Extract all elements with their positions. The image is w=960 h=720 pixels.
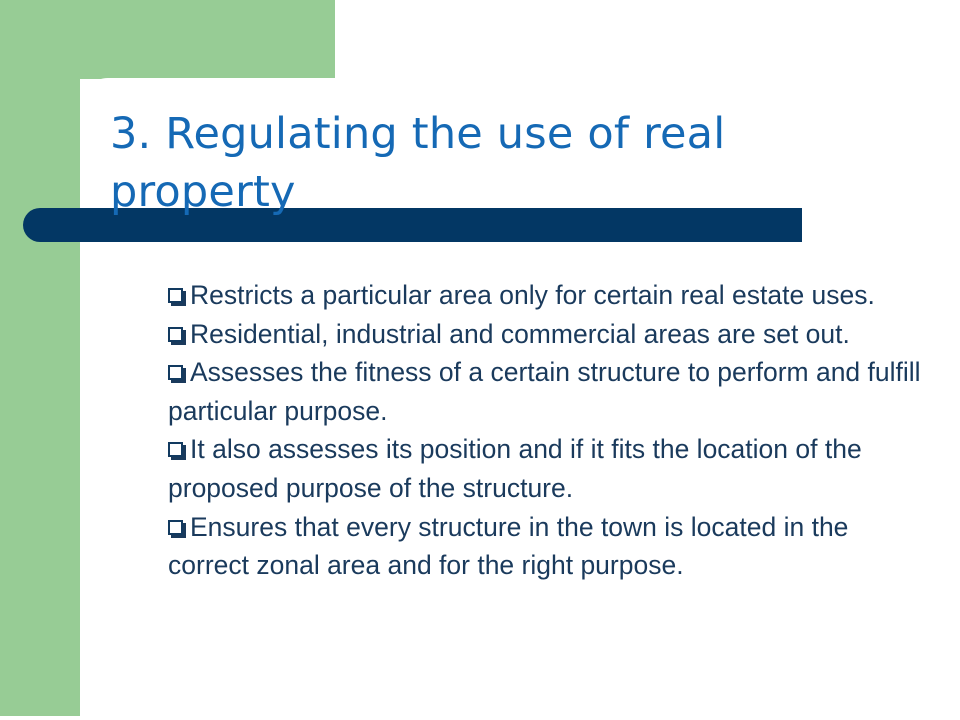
list-item-text: Restricts a particular area only for cer…	[190, 280, 875, 310]
hollow-square-bullet-icon	[168, 327, 189, 345]
presentation-slide: 3. Regulating the use of real property R…	[0, 0, 960, 720]
hollow-square-bullet-icon	[168, 442, 189, 460]
list-item: Ensures that every structure in the town…	[168, 508, 928, 585]
list-item-text: Ensures that every structure in the town…	[168, 512, 848, 581]
bullet-list: Restricts a particular area only for cer…	[168, 276, 928, 585]
list-item: It also assesses its position and if it …	[168, 430, 928, 507]
list-item-text: It also assesses its position and if it …	[168, 434, 862, 503]
hollow-square-bullet-icon	[168, 365, 189, 383]
hollow-square-bullet-icon	[168, 288, 189, 306]
list-item: Restricts a particular area only for cer…	[168, 276, 928, 315]
list-item-text: Assesses the fitness of a certain struct…	[168, 357, 921, 426]
hollow-square-bullet-icon	[168, 520, 189, 538]
list-item-text: Residential, industrial and commercial a…	[190, 319, 850, 349]
list-item: Assesses the fitness of a certain struct…	[168, 353, 928, 430]
green-side-column-decoration	[0, 0, 80, 716]
slide-title: 3. Regulating the use of real property	[110, 105, 810, 221]
list-item: Residential, industrial and commercial a…	[168, 315, 928, 354]
